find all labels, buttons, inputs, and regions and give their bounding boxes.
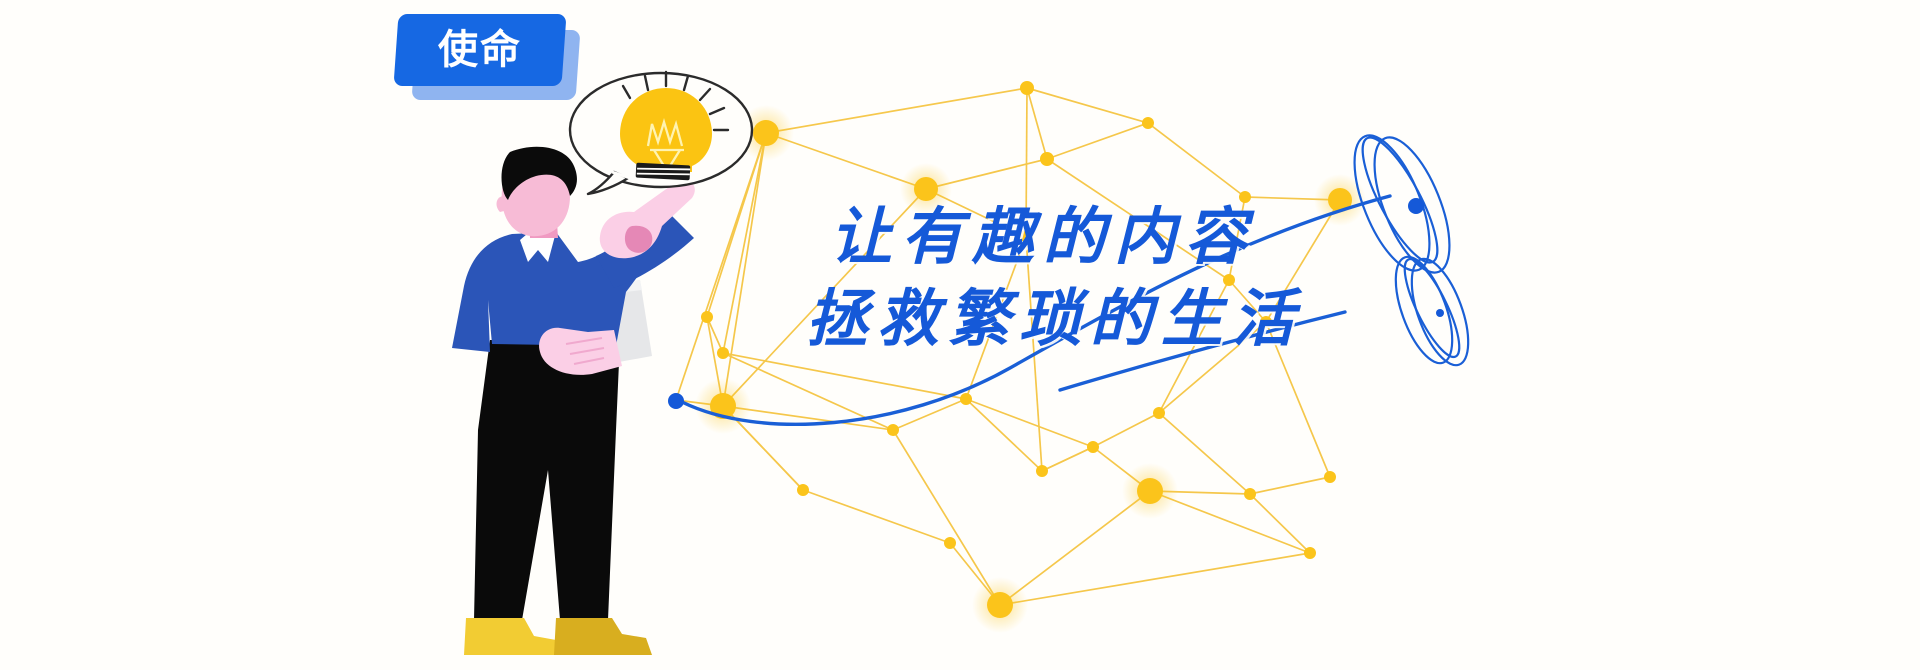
headline-line-2: 拯救繁琐的生活 [806, 278, 1560, 360]
mission-badge[interactable]: 使命 [396, 14, 578, 100]
badge-label: 使命 [438, 30, 522, 70]
headline-line-1: 让有趣的内容 [830, 196, 1560, 278]
lightbulb-base [636, 163, 691, 181]
headline: 让有趣的内容 拯救繁琐的生活 [830, 196, 1560, 360]
mission-banner: 使命 让有趣的内容 拯救繁琐的生活 [0, 0, 1920, 670]
badge-plate[interactable]: 使命 [393, 14, 566, 86]
